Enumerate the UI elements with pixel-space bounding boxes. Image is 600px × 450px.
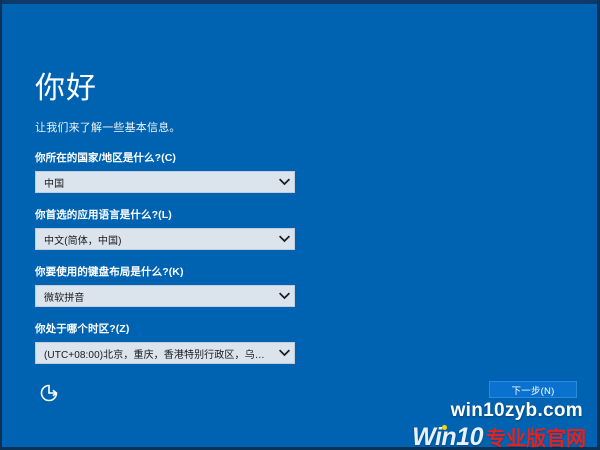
page-subtitle: 让我们来了解一些基本信息。 <box>35 119 181 135</box>
watermark-brand: Win10 专业版官网 <box>412 422 586 450</box>
oobe-screen: 你好 让我们来了解一些基本信息。 你所在的国家/地区是什么?(C) 中国 你首选… <box>0 0 600 450</box>
chevron-down-icon <box>274 178 294 186</box>
field-label-keyboard: 你要使用的键盘布局是什么?(K) <box>35 264 295 279</box>
watermark-domain: win10zyb.com <box>451 400 583 422</box>
field-label-timezone: 你处于哪个时区?(Z) <box>35 321 295 336</box>
keyboard-dropdown-value: 微软拼音 <box>36 289 274 304</box>
language-dropdown-value: 中文(简体，中国) <box>36 232 274 247</box>
country-dropdown[interactable]: 中国 <box>35 171 295 193</box>
field-group-keyboard: 你要使用的键盘布局是什么?(K) 微软拼音 <box>35 264 295 307</box>
chevron-down-icon <box>274 235 294 243</box>
keyboard-dropdown[interactable]: 微软拼音 <box>35 285 295 307</box>
field-group-timezone: 你处于哪个时区?(Z) (UTC+08:00)北京，重庆，香港特别行政区，乌鲁木… <box>35 321 295 364</box>
page-title: 你好 <box>35 72 97 105</box>
timezone-dropdown[interactable]: (UTC+08:00)北京，重庆，香港特别行政区，乌鲁木齐 <box>35 342 295 364</box>
next-button-label: 下一步(N) <box>512 383 555 397</box>
field-label-country: 你所在的国家/地区是什么?(C) <box>35 150 295 165</box>
chevron-down-icon <box>274 292 294 300</box>
window-top-edge <box>0 0 600 4</box>
next-button[interactable]: 下一步(N) <box>489 381 577 398</box>
field-group-country: 你所在的国家/地区是什么?(C) 中国 <box>35 150 295 193</box>
watermark-brand-sub: 专业版官网 <box>486 422 586 450</box>
field-group-language: 你首选的应用语言是什么?(L) 中文(简体，中国) <box>35 207 295 250</box>
language-dropdown[interactable]: 中文(简体，中国) <box>35 228 295 250</box>
field-label-language: 你首选的应用语言是什么?(L) <box>35 207 295 222</box>
ease-of-access-icon[interactable] <box>36 380 62 406</box>
window-left-edge <box>0 0 2 450</box>
watermark-brand-main: Win10 <box>412 423 483 450</box>
settings-form: 你所在的国家/地区是什么?(C) 中国 你首选的应用语言是什么?(L) 中文(简… <box>35 150 295 378</box>
timezone-dropdown-value: (UTC+08:00)北京，重庆，香港特别行政区，乌鲁木齐 <box>36 346 274 361</box>
country-dropdown-value: 中国 <box>36 175 274 190</box>
chevron-down-icon <box>274 349 294 357</box>
